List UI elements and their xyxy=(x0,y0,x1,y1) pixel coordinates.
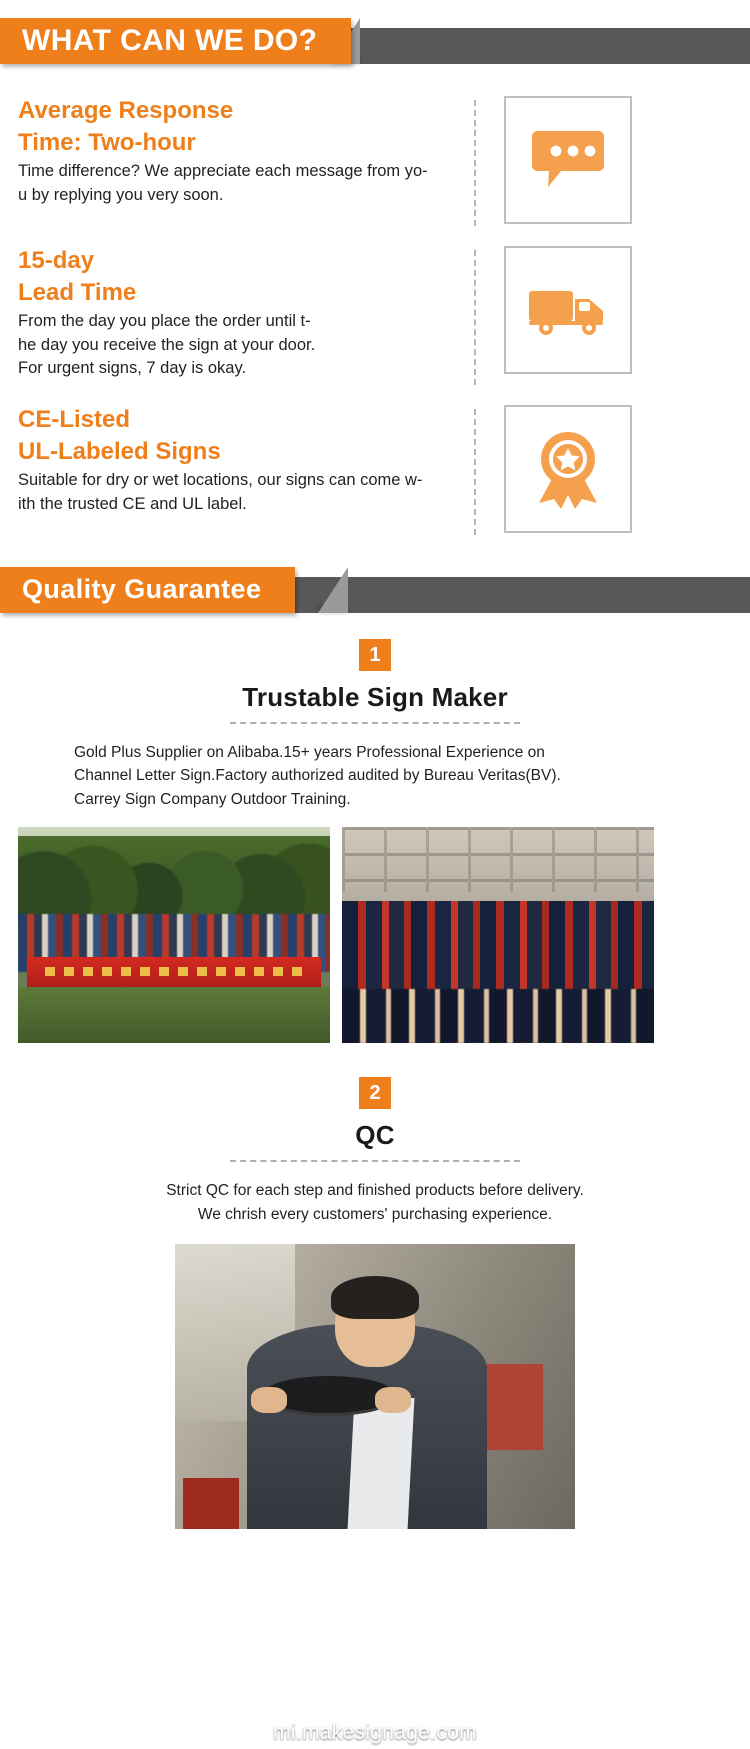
photo-row xyxy=(0,827,750,1043)
qc-inspection-photo xyxy=(175,1244,575,1529)
banner-orange-tab: Quality Guarantee xyxy=(0,567,295,613)
site-watermark: mi.makesignage.com xyxy=(0,1721,750,1745)
title-dashed-rule xyxy=(230,1160,520,1162)
feature-title-line1: CE-Listed xyxy=(18,405,470,435)
feature-body: Time difference? We appreciate each mess… xyxy=(18,160,470,207)
feature-list: Average Response Time: Two-hour Time dif… xyxy=(0,64,750,541)
quality-guarantee-content: 1 Trustable Sign Maker Gold Plus Supplie… xyxy=(0,613,750,1530)
feature-title-line1: Average Response xyxy=(18,96,470,126)
quality-block-qc: 2 QC Strict QC for each step and finishe… xyxy=(0,1077,750,1529)
feature-row-response-time: Average Response Time: Two-hour Time dif… xyxy=(0,82,750,232)
feature-icon-box xyxy=(504,96,632,224)
banner-title: WHAT CAN WE DO? xyxy=(22,26,317,56)
factory-workers-group-photo xyxy=(342,827,654,1043)
feature-copy: CE-Listed UL-Labeled Signs Suitable for … xyxy=(0,405,470,516)
delivery-truck-icon xyxy=(527,283,609,337)
feature-body: Suitable for dry or wet locations, our s… xyxy=(18,469,470,516)
feature-divider xyxy=(474,409,476,535)
quality-block-body: Strict QC for each step and finished pro… xyxy=(0,1179,750,1226)
quality-block-title: QC xyxy=(0,1120,750,1151)
quality-block-title: Trustable Sign Maker xyxy=(0,682,750,713)
chat-bubble-icon xyxy=(531,129,605,191)
banner-title: Quality Guarantee xyxy=(22,576,261,603)
feature-divider xyxy=(474,100,476,226)
feature-title-line1: 15-day xyxy=(18,246,470,276)
section-banner-what-can-we-do: WHAT CAN WE DO? xyxy=(0,18,750,64)
title-dashed-rule xyxy=(230,722,520,724)
feature-row-certifications: CE-Listed UL-Labeled Signs Suitable for … xyxy=(0,391,750,541)
feature-copy: Average Response Time: Two-hour Time dif… xyxy=(0,96,470,207)
outdoor-team-group-photo xyxy=(18,827,330,1043)
feature-divider xyxy=(474,250,476,385)
banner-notch xyxy=(318,567,348,613)
section-banner-quality-guarantee: Quality Guarantee xyxy=(0,567,750,613)
feature-copy: 15-day Lead Time From the day you place … xyxy=(0,246,470,381)
step-number-badge: 1 xyxy=(359,639,391,671)
feature-icon-box xyxy=(504,405,632,533)
feature-row-lead-time: 15-day Lead Time From the day you place … xyxy=(0,232,750,391)
feature-icon-box xyxy=(504,246,632,374)
feature-title-line2: Time: Two-hour xyxy=(18,128,470,158)
step-number-badge: 2 xyxy=(359,1077,391,1109)
feature-body: From the day you place the order until t… xyxy=(18,310,470,380)
banner-orange-tab: WHAT CAN WE DO? xyxy=(0,18,351,64)
award-ribbon-icon xyxy=(531,429,605,509)
feature-title-line2: Lead Time xyxy=(18,278,470,308)
quality-block-trustable-sign-maker: 1 Trustable Sign Maker Gold Plus Supplie… xyxy=(0,639,750,1044)
quality-block-body: Gold Plus Supplier on Alibaba.15+ years … xyxy=(0,741,750,812)
feature-title-line2: UL-Labeled Signs xyxy=(18,437,470,467)
